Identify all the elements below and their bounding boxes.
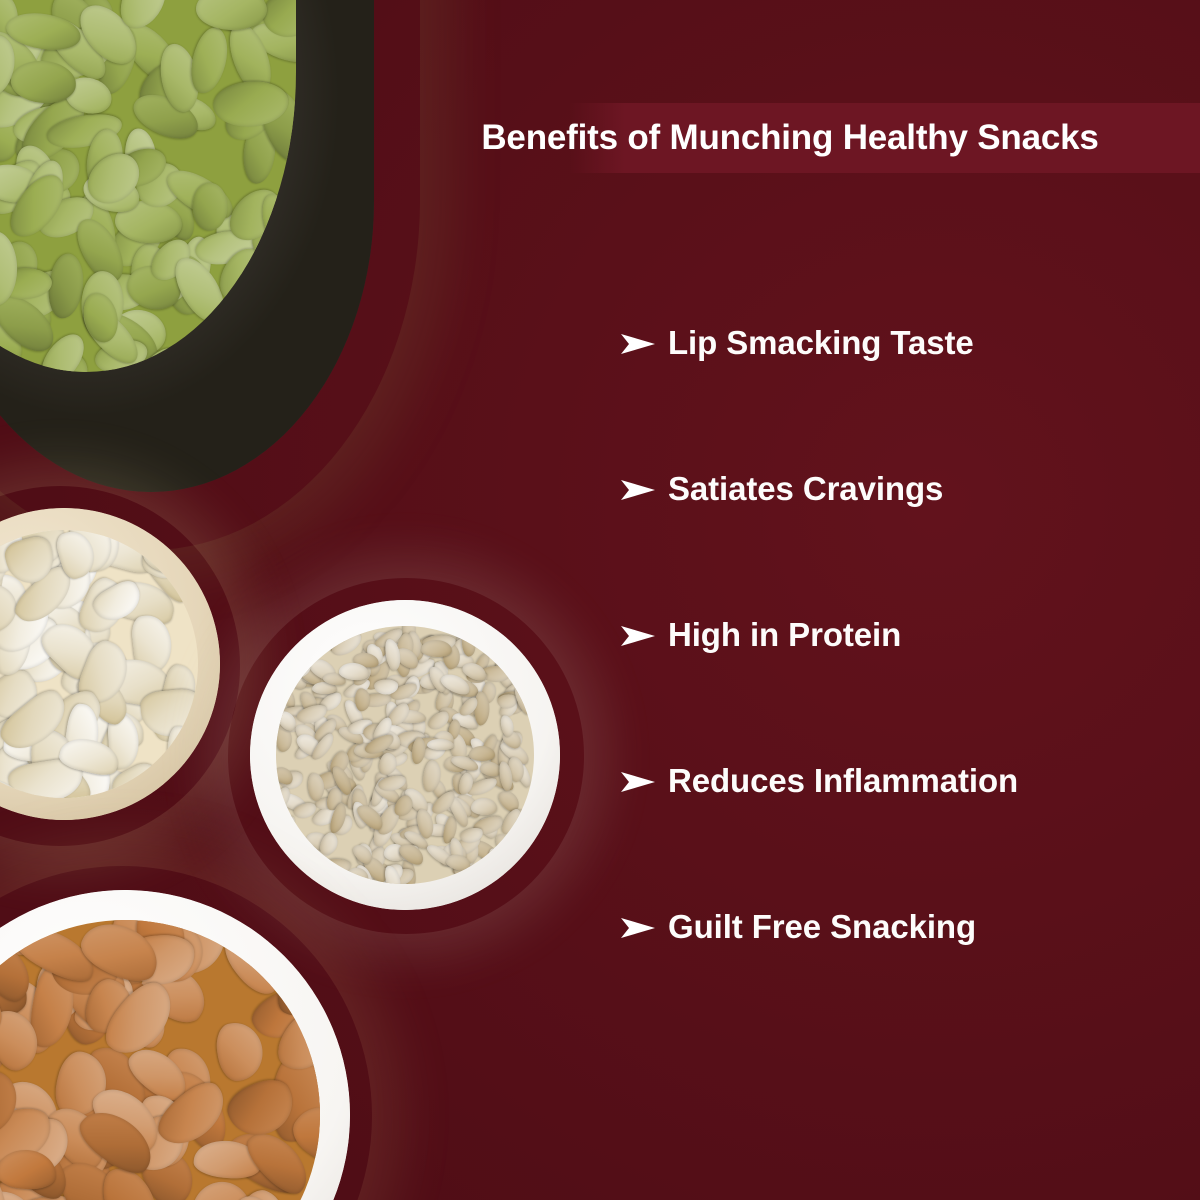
benefit-item-label: Lip Smacking Taste (668, 318, 974, 368)
benefit-item: High in Protein (612, 610, 1182, 756)
sunflower-seeds-fill (276, 626, 534, 884)
almonds-fill (0, 920, 320, 1200)
arrowhead-right-icon (618, 616, 658, 656)
cashews-fill (0, 530, 198, 798)
benefit-item-label: Guilt Free Snacking (668, 902, 976, 952)
arrowhead-right-icon (618, 470, 658, 510)
page-title: Benefits of Munching Healthy Snacks (395, 112, 1185, 164)
benefit-item: Guilt Free Snacking (612, 902, 1182, 1048)
benefit-item: Reduces Inflammation (612, 756, 1182, 902)
arrowhead-right-icon (618, 324, 658, 364)
sunflower-seeds-bowl (250, 600, 560, 910)
cashews-bowl (0, 508, 220, 820)
arrowhead-right-icon (618, 908, 658, 948)
infographic-poster: Benefits of Munching Healthy Snacks Lip … (0, 0, 1200, 1200)
pumpkin-seeds-fill (0, 0, 296, 372)
pumpkin-seed (186, 24, 233, 97)
pumpkin-seed (45, 252, 87, 321)
pumpkin-seed (192, 183, 228, 231)
benefit-item-label: Reduces Inflammation (668, 756, 1018, 806)
sunflower-seed (470, 798, 496, 815)
benefits-list: Lip Smacking TasteSatiates CravingsHigh … (612, 318, 1182, 1048)
benefit-item-label: Satiates Cravings (668, 464, 943, 514)
benefit-item: Satiates Cravings (612, 464, 1182, 610)
arrowhead-right-icon (618, 762, 658, 802)
almonds-bowl (0, 890, 350, 1200)
benefit-item-label: High in Protein (668, 610, 901, 660)
sunflower-seed (469, 746, 495, 761)
sunflower-seed (354, 687, 370, 710)
benefit-item: Lip Smacking Taste (612, 318, 1182, 464)
